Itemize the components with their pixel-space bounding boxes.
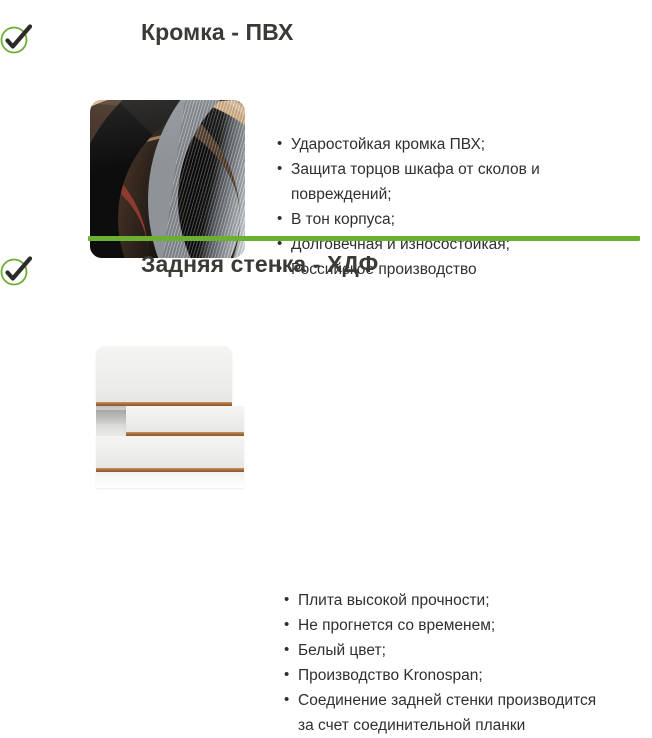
section-heading-row: Задняя стенка - ХДФ [0, 246, 652, 286]
pvc-edge-banding-photo [90, 100, 245, 258]
feature-list-back-panel: Плита высокой прочности; Не прогнется со… [284, 588, 614, 738]
list-item: Ударостойкая кромка ПВХ; [277, 132, 607, 157]
page-title: Задняя стенка - ХДФ [141, 251, 378, 278]
check-circle-icon [0, 22, 34, 56]
list-item: Защита торцов шкафа от сколов и поврежде… [277, 157, 607, 207]
list-item: Соединение задней стенки производится за… [284, 688, 614, 738]
hdf-panel-photo [92, 338, 250, 494]
check-circle-icon [0, 254, 34, 288]
list-item: Производство Kronospan; [284, 663, 614, 688]
list-item: Плита высокой прочности; [284, 588, 614, 613]
section-heading-row: Кромка - ПВХ [0, 14, 652, 54]
list-item: Не прогнется со временем; [284, 613, 614, 638]
product-features-page: Кромка - ПВХ Ударостойкая кром [0, 0, 652, 500]
section-back-panel: Задняя стенка - ХДФ Плита высо [0, 246, 652, 286]
page-title: Кромка - ПВХ [141, 19, 293, 46]
list-item: В тон корпуса; [277, 207, 607, 232]
section-divider [88, 236, 640, 241]
list-item: Белый цвет; [284, 638, 614, 663]
section-edge-banding: Кромка - ПВХ Ударостойкая кром [0, 14, 652, 54]
